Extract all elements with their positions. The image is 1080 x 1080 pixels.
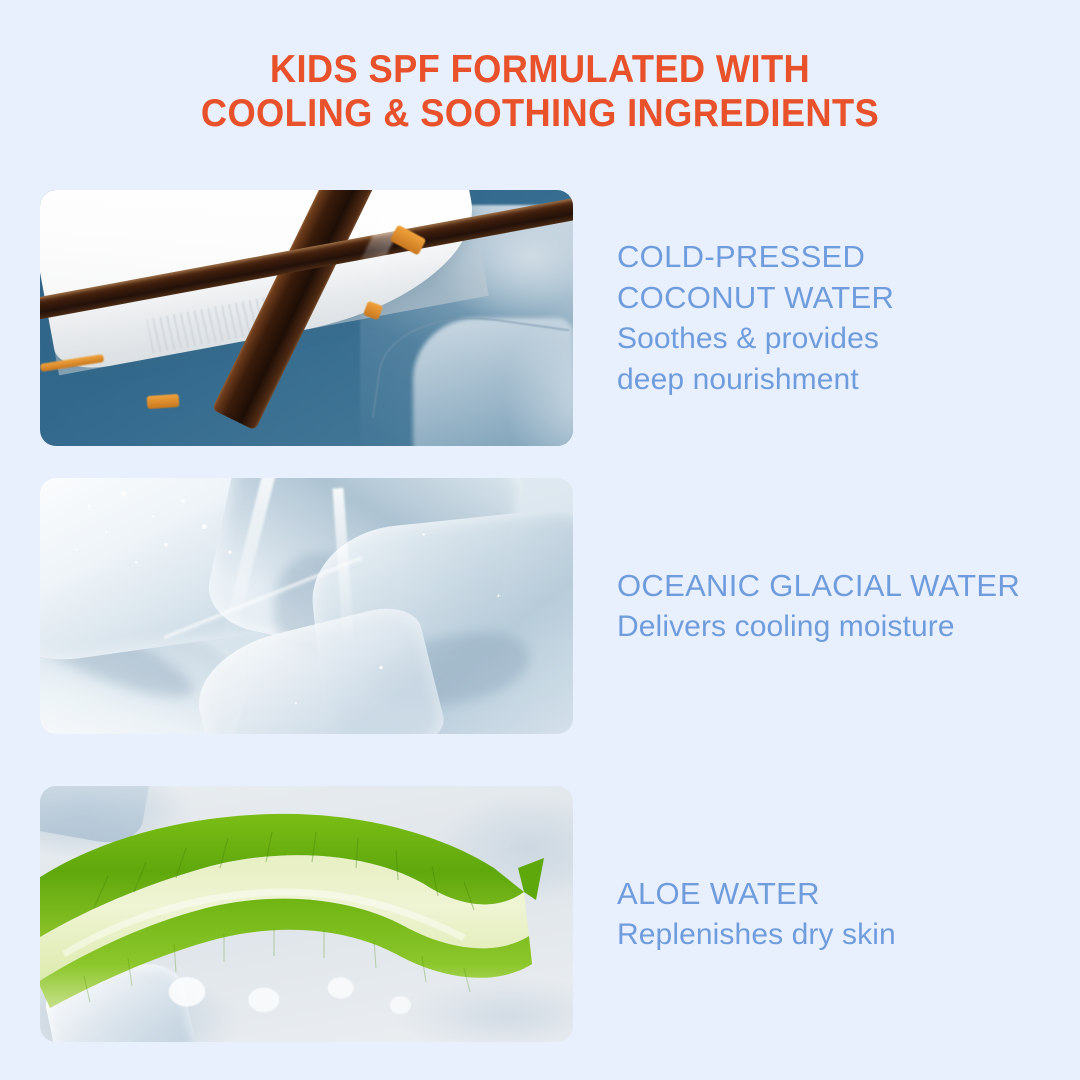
aloe-photo <box>40 786 573 1042</box>
glacial-ice-image <box>40 478 573 734</box>
ingredient-row-glacial-water: OCEANIC GLACIAL WATER Delivers cooling m… <box>40 478 1040 734</box>
ingredient-row-aloe: ALOE WATER Replenishes dry skin <box>40 786 1040 1042</box>
ingredient-description: Replenishes dry skin <box>617 914 1040 955</box>
glacial-ice-photo <box>40 478 573 734</box>
headline-line-1: KIDS SPF FORMULATED WITH <box>38 48 1042 92</box>
ingredient-title: COLD-PRESSED COCONUT WATER <box>617 236 1040 318</box>
coconut-copy: COLD-PRESSED COCONUT WATER Soothes & pro… <box>617 190 1040 446</box>
glacial-water-copy: OCEANIC GLACIAL WATER Delivers cooling m… <box>617 478 1040 734</box>
ingredient-row-coconut: COLD-PRESSED COCONUT WATER Soothes & pro… <box>40 190 1040 446</box>
ingredient-description: Delivers cooling moisture <box>617 606 1040 647</box>
ingredient-infographic: KIDS SPF FORMULATED WITH COOLING & SOOTH… <box>0 0 1080 1080</box>
aloe-copy: ALOE WATER Replenishes dry skin <box>617 786 1040 1042</box>
aloe-water-droplets <box>93 965 519 1032</box>
coconut-photo <box>40 190 573 446</box>
aloe-image <box>40 786 573 1042</box>
ice-sparkles <box>40 478 573 734</box>
headline-line-2: COOLING & SOOTHING INGREDIENTS <box>38 92 1042 136</box>
coconut-image <box>40 190 573 446</box>
coconut-fiber-c <box>146 394 179 409</box>
page-title: KIDS SPF FORMULATED WITH COOLING & SOOTH… <box>38 48 1042 136</box>
ingredient-title: OCEANIC GLACIAL WATER <box>617 565 1040 606</box>
ingredient-description: Soothes & provides deep nourishment <box>617 318 1040 400</box>
ingredient-title: ALOE WATER <box>617 873 1040 914</box>
